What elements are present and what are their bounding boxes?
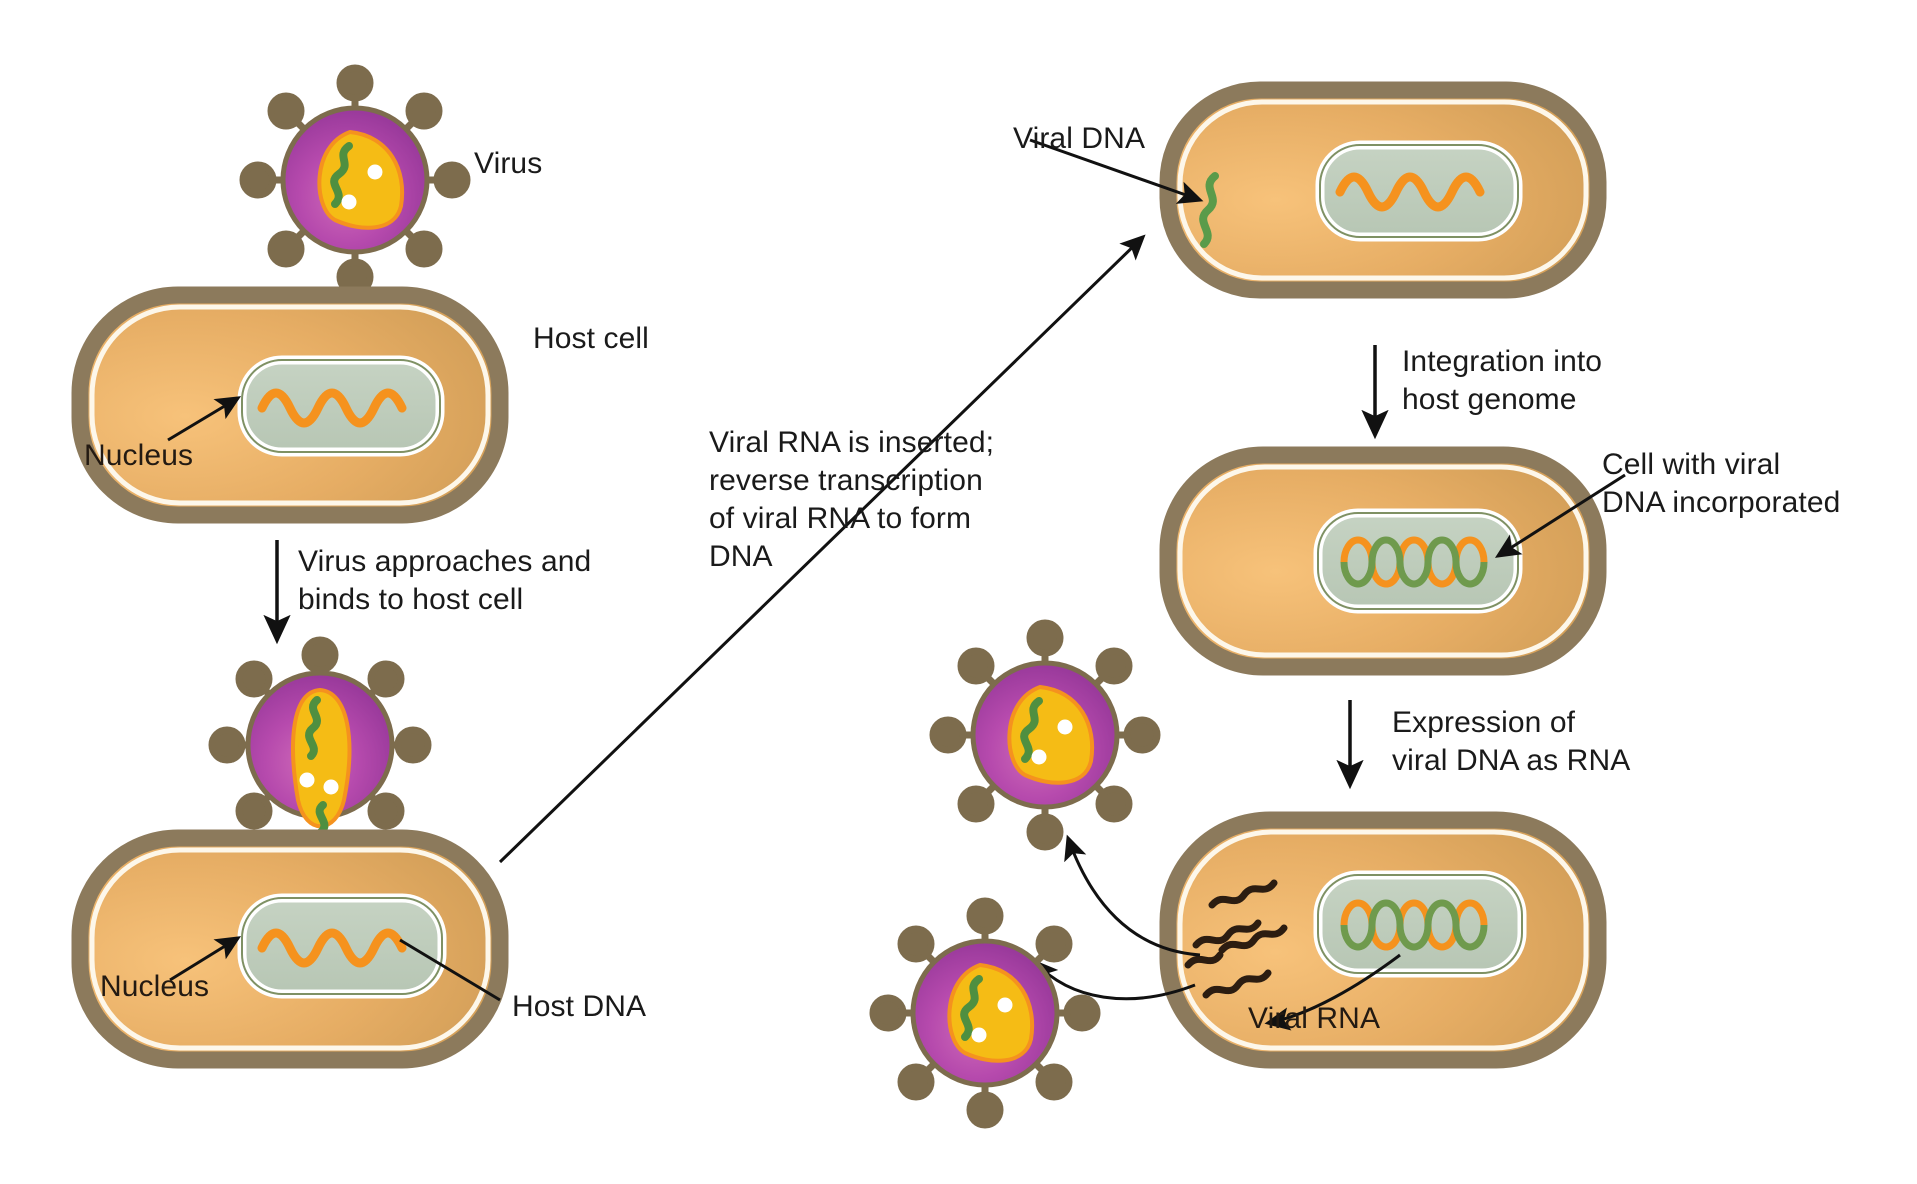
label-nucleus-top: Nucleus: [84, 437, 193, 475]
nucleus-bottom-right: [1318, 875, 1522, 973]
label-cell-with-viral-dna-line1: Cell with viral: [1602, 446, 1780, 484]
label-virus: Virus: [474, 145, 542, 183]
step-rt-line1: Viral RNA is inserted;: [709, 424, 994, 462]
step-expression-line2: viral DNA as RNA: [1392, 742, 1630, 780]
step-integration-line1: Integration into: [1402, 343, 1602, 381]
nucleus-top-left: [242, 360, 440, 452]
retrovirus-cycle-illustration: [0, 0, 1917, 1184]
host-cell-top-left: [80, 295, 500, 515]
step-rt-line2: reverse transcription: [709, 462, 983, 500]
host-cell-bottom-right: [1168, 820, 1598, 1060]
step-rt-line4: DNA: [709, 538, 773, 576]
nucleus-middle-right: [1318, 513, 1518, 609]
label-host-cell: Host cell: [533, 320, 649, 358]
step-expression-line1: Expression of: [1392, 704, 1575, 742]
step-integration-line2: host genome: [1402, 381, 1577, 419]
virus-top-left: [243, 68, 467, 292]
label-viral-rna: Viral RNA: [1248, 1000, 1380, 1038]
virus-bound-to-cell: [212, 640, 428, 832]
virus-new-lower: [873, 901, 1097, 1125]
diagram-stage: Virus Host cell Nucleus Virus approaches…: [0, 0, 1917, 1184]
host-cell-bottom-left: [80, 838, 500, 1060]
label-nucleus-bottom: Nucleus: [100, 968, 209, 1006]
label-cell-with-viral-dna-line2: DNA incorporated: [1602, 484, 1840, 522]
nucleus-top-right: [1320, 145, 1518, 237]
virus-new-upper: [933, 623, 1157, 847]
step-binding-line1: Virus approaches and: [298, 543, 591, 581]
step-binding-line2: binds to host cell: [298, 581, 523, 619]
injected-viral-rna: [320, 805, 325, 832]
host-cell-middle-right: [1168, 455, 1625, 667]
label-host-dna: Host DNA: [512, 988, 646, 1026]
label-viral-dna: Viral DNA: [1013, 120, 1145, 158]
step-rt-line3: of viral RNA to form: [709, 500, 971, 538]
